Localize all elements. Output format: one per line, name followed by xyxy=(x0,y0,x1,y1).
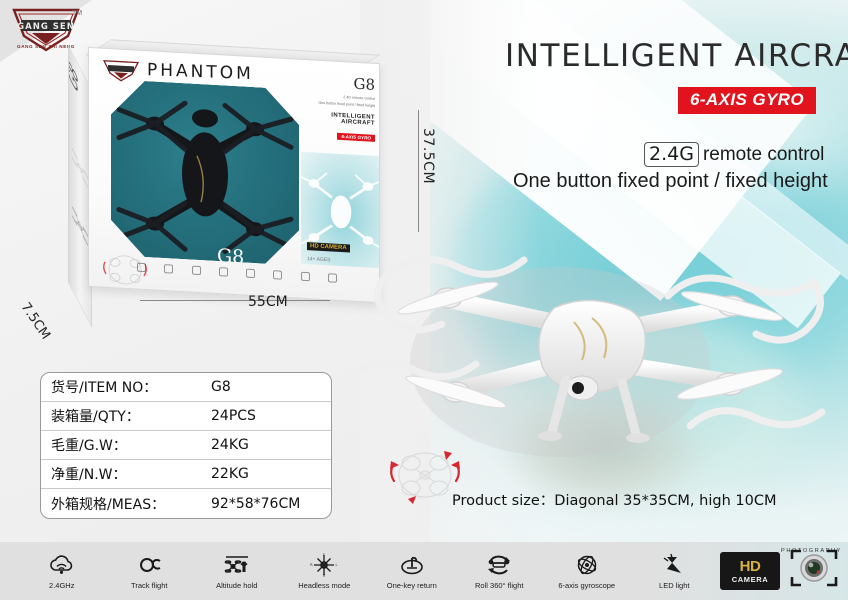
box-icon-6 xyxy=(273,270,282,280)
svg-text:R: R xyxy=(310,563,313,567)
spec-value: 24PCS xyxy=(211,408,256,424)
feature-subline: One button fixed point / fixed height xyxy=(513,170,828,193)
feature-item-roll-360: Roll 360° flight xyxy=(456,553,544,590)
table-row: 毛重/G.W： 24KG xyxy=(41,431,331,460)
spec-key: 净重/N.W： xyxy=(51,464,211,484)
spec-value: 24KG xyxy=(211,437,249,453)
wifi-cloud-icon xyxy=(49,553,75,577)
gyro-badge: 6-AXIS GYRO xyxy=(678,87,816,114)
box-icon-1 xyxy=(137,263,146,273)
camera-lens-icon xyxy=(788,546,840,590)
box-drone-illustration xyxy=(111,79,299,266)
box-side-badge: 6-AXIS GYRO xyxy=(337,133,375,142)
spine-drone-icon xyxy=(71,143,89,193)
feature-label: LED light xyxy=(659,581,689,590)
hd-label: HD xyxy=(740,559,761,574)
box-product-name: PHANTOM xyxy=(147,60,254,84)
spec-table: 货号/ITEM NO： G8 装箱量/QTY： 24PCS 毛重/G.W： 24… xyxy=(40,372,332,519)
gyroscope-icon xyxy=(574,553,600,577)
hero-drone-image xyxy=(330,212,848,462)
box-side-title: INTELLIGENT AIRCRAFT xyxy=(307,111,375,127)
svg-text:B: B xyxy=(323,573,326,577)
feature-bar: 2.4GHz Track flight xyxy=(0,542,848,600)
box-height-label: 37.5CM xyxy=(420,128,436,184)
track-flight-icon xyxy=(135,553,163,577)
spec-value: 92*58*76CM xyxy=(211,496,300,512)
box-icon-3 xyxy=(192,266,201,276)
spec-value: G8 xyxy=(211,379,231,395)
box-side-line2: One button fixed point / fixed height xyxy=(307,100,375,108)
box-brand-logo xyxy=(101,59,141,83)
feature-item-one-key-return: One-key return xyxy=(368,553,456,590)
led-light-icon xyxy=(661,553,687,577)
spec-key: 毛重/G.W： xyxy=(51,435,211,455)
spine-drone-icon-2 xyxy=(71,201,89,251)
box-width-label: 55CM xyxy=(248,294,288,310)
camera-label: CAMERA xyxy=(732,575,769,584)
svg-text:L: L xyxy=(336,563,338,567)
feature-item-gyroscope: 6-axis gyroscope xyxy=(543,553,631,590)
feature-item-track-flight: Track flight xyxy=(106,553,194,590)
box-feature-icon-strip xyxy=(137,263,337,283)
spine-model-label: G8 xyxy=(68,55,82,102)
feature-label: 2.4GHz xyxy=(49,581,74,590)
feature-item-headless-mode: F B R L Headless mode xyxy=(281,553,369,590)
feature-item-altitude-hold: Altitude hold xyxy=(193,553,281,590)
hd-camera-badge: HD CAMERA xyxy=(720,552,780,590)
table-row: 净重/N.W： 22KG xyxy=(41,460,331,489)
spec-key: 装箱量/QTY： xyxy=(51,406,211,426)
svg-text:F: F xyxy=(323,553,325,557)
product-size-caption: Product size：Diagonal 35*35CM, high 10CM xyxy=(452,489,776,510)
page-title: INTELLIGENT AIRCRAFT xyxy=(505,38,848,74)
return-home-icon xyxy=(399,553,425,577)
feature-label: Altitude hold xyxy=(216,581,257,590)
roll-360-icon xyxy=(485,553,513,577)
altitude-hold-icon xyxy=(224,553,250,577)
box-icon-7 xyxy=(301,272,310,282)
trademark-symbol: TM xyxy=(72,10,82,17)
frequency-box: 2.4G xyxy=(644,142,699,167)
spec-key: 外箱规格/MEAS： xyxy=(51,494,211,514)
width-dimension-line xyxy=(140,300,330,301)
svg-text:GANG SEN: GANG SEN xyxy=(17,22,75,32)
feature-label: One-key return xyxy=(387,581,437,590)
box-model-label: G8 xyxy=(217,245,244,269)
spec-value: 22KG xyxy=(211,466,249,482)
feature-item-2-4ghz: 2.4GHz xyxy=(18,553,106,590)
feature-label: 6-axis gyroscope xyxy=(558,581,615,590)
box-display-window: G8 INTELLIGENT AIRCRAFT xyxy=(111,79,299,266)
table-row: 装箱量/QTY： 24PCS xyxy=(41,402,331,431)
remote-control-line: 2.4G remote control xyxy=(644,142,824,167)
feature-list: 2.4GHz Track flight xyxy=(18,542,718,600)
feature-label: Headless mode xyxy=(298,581,350,590)
spec-key: 货号/ITEM NO： xyxy=(51,377,211,397)
box-icon-2 xyxy=(164,264,173,274)
compass-icon: F B R L xyxy=(309,553,339,577)
box-side-text-block: G8 2.4G remote control One button fixed … xyxy=(307,72,379,176)
remote-control-label: remote control xyxy=(703,144,824,166)
box-icon-5 xyxy=(246,269,255,279)
feature-item-led-light: LED light xyxy=(631,553,719,590)
feature-label: Roll 360° flight xyxy=(475,581,523,590)
table-row: 外箱规格/MEAS： 92*58*76CM xyxy=(41,489,331,518)
box-icon-4 xyxy=(219,267,228,277)
box-age-label: 14+ AGES xyxy=(307,256,331,263)
table-row: 货号/ITEM NO： G8 xyxy=(41,373,331,402)
box-side-model: G8 xyxy=(307,72,375,94)
feature-label: Track flight xyxy=(131,581,167,590)
